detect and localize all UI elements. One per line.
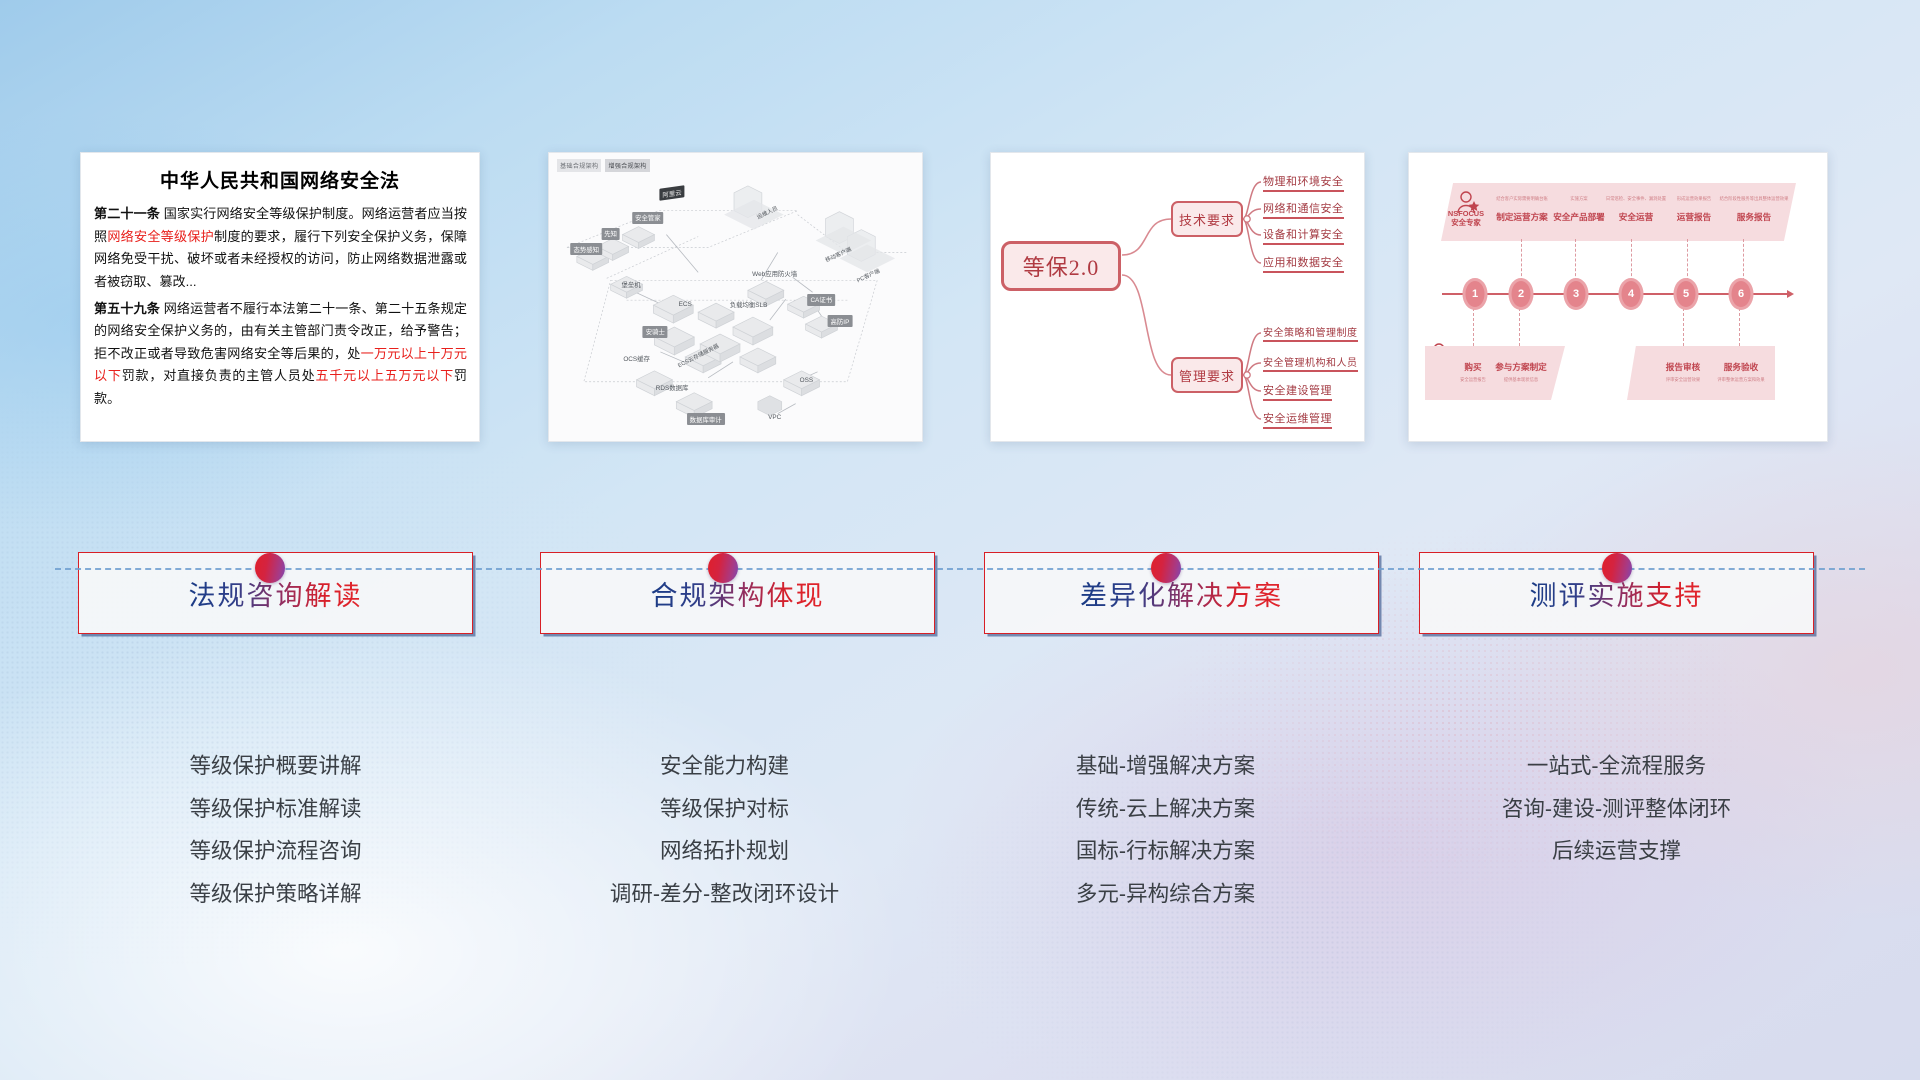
arch-node-xianzhi: 先知 xyxy=(601,228,620,240)
list-item: 多元-异构综合方案 xyxy=(968,884,1363,906)
timeline-top-main-3: 安全产品部署 xyxy=(1553,211,1605,223)
timeline-top-main-4: 安全运营 xyxy=(1619,211,1653,223)
mindmap-root-node: 等保2.0 xyxy=(1001,241,1121,291)
timeline-bottom-sub-5: 评审安全运营效果 xyxy=(1666,377,1700,383)
service-timeline: NSFOCUS 安全专家 客户 结合客户实际需要明确台账 制定运营方案 实施方案… xyxy=(1409,153,1827,441)
title-box-differentiated-solution[interactable]: 差异化解决方案 xyxy=(984,552,1379,634)
timeline-node-4[interactable] xyxy=(1602,553,1632,583)
arch-node-security-butler: 安全管家 xyxy=(632,212,664,224)
law-article-21-number: 第二十一条 xyxy=(94,206,160,221)
timeline-bottom-band-right xyxy=(1627,346,1775,400)
timeline-bottom-sub-6: 评审整体运营方案和效果 xyxy=(1717,377,1764,383)
timeline-link-line xyxy=(1575,239,1576,281)
timeline-link-line xyxy=(1687,239,1688,281)
arch-node-rds-database: RDS数据库 xyxy=(653,382,692,394)
list-item: 网络拓扑规划 xyxy=(527,841,922,863)
arch-node-ocs-cache: OCS缓存 xyxy=(620,353,653,365)
mindmap-leaf-construction: 安全建设管理 xyxy=(1263,382,1332,401)
timeline-top-main-2: 制定运营方案 xyxy=(1496,211,1548,223)
timeline-bottom-main-6: 服务验收 xyxy=(1724,361,1758,373)
list-item: 一站式-全流程服务 xyxy=(1419,756,1814,778)
timeline-top-main-5: 运营报告 xyxy=(1677,211,1711,223)
arch-node-bastion-host: 堡垒机 xyxy=(618,278,643,290)
mindmap: 等保2.0 技术要求 管理要求 物理和环境安全 网络和通信安全 设备和计算安全 … xyxy=(991,153,1364,441)
timeline-bottom-sub-2: 提供基本现状信息 xyxy=(1504,377,1538,383)
timeline-link-line xyxy=(1473,308,1474,346)
list-item: 传统-云上解决方案 xyxy=(968,799,1363,821)
mindmap-branch-technical: 技术要求 xyxy=(1171,201,1243,237)
timeline-bottom-main-5: 报告审核 xyxy=(1666,361,1700,373)
title-text-differentiated-solution: 差异化解决方案 xyxy=(1080,574,1283,613)
law-card-body: 第二十一条 国家实行网络安全等级保护制度。网络运营者应当按照网络安全等级保护制度… xyxy=(81,193,479,411)
timeline-provider-role-line1: NSFOCUS xyxy=(1448,209,1484,218)
timeline-node-2[interactable] xyxy=(708,553,738,583)
timeline-provider-role: NSFOCUS 安全专家 xyxy=(1448,209,1484,228)
timeline-link-line xyxy=(1521,239,1522,281)
architecture-diagram: 基础合规架构 增强合规架构 xyxy=(549,153,922,441)
list-item: 等级保护流程咨询 xyxy=(78,841,473,863)
timeline-bottom-band-left xyxy=(1425,346,1565,400)
arch-node-ecs: ECS xyxy=(676,299,695,309)
dengbao-mindmap-card: 等保2.0 技术要求 管理要求 物理和环境安全 网络和通信安全 设备和计算安全 … xyxy=(990,152,1365,442)
timeline-bottom-sub-1: 安全运营报告 xyxy=(1460,377,1486,383)
list-evaluation-support: 一站式-全流程服务 咨询-建设-测评整体闭环 后续运营支撑 xyxy=(1419,756,1814,863)
mindmap-leaf-physical-env: 物理和环境安全 xyxy=(1263,173,1344,192)
mindmap-leaf-app-data: 应用和数据安全 xyxy=(1263,254,1344,273)
timeline-link-line xyxy=(1683,308,1684,346)
law-run-highlight: 网络安全等级保护 xyxy=(107,229,214,244)
arch-node-slb: 负载均衡SLB xyxy=(727,298,771,310)
law-run-highlight: 五千元以上五万元以下 xyxy=(315,368,453,383)
list-item: 安全能力构建 xyxy=(527,756,922,778)
timeline-marker-5: 5 xyxy=(1674,278,1699,310)
arch-node-oss: OSS xyxy=(797,376,817,386)
list-regulation-consulting: 等级保护概要讲解 等级保护标准解读 等级保护流程咨询 等级保护策略详解 xyxy=(78,756,473,905)
list-item: 等级保护概要讲解 xyxy=(78,756,473,778)
mindmap-leaf-org-personnel: 安全管理机构和人员 xyxy=(1263,354,1358,372)
timeline-link-line xyxy=(1519,308,1520,346)
list-item: 国标-行标解决方案 xyxy=(968,841,1363,863)
list-item: 后续运营支撑 xyxy=(1419,841,1814,863)
cybersecurity-law-card: 中华人民共和国网络安全法 第二十一条 国家实行网络安全等级保护制度。网络运营者应… xyxy=(80,152,480,442)
arch-node-vpc: VPC xyxy=(765,413,784,423)
law-article-59: 第五十九条 网络运营者不履行本法第二十一条、第二十五条规定的网络安全保护义务的，… xyxy=(94,298,467,411)
timeline-bottom-main-2: 参与方案制定 xyxy=(1495,361,1547,373)
mindmap-leaf-network-comm: 网络和通信安全 xyxy=(1263,200,1344,219)
nsfocus-service-timeline-card: NSFOCUS 安全专家 客户 结合客户实际需要明确台账 制定运营方案 实施方案… xyxy=(1408,152,1828,442)
arch-node-waf: Web应用防火墙 xyxy=(749,268,800,280)
list-item: 等级保护对标 xyxy=(527,799,922,821)
title-text-compliance-architecture: 合规架构体现 xyxy=(651,574,825,613)
mindmap-leaf-operations: 安全运维管理 xyxy=(1263,410,1332,429)
timeline-provider-role-line2: 安全专家 xyxy=(1451,218,1481,227)
timeline-node-1[interactable] xyxy=(255,553,285,583)
list-item: 等级保护策略详解 xyxy=(78,884,473,906)
arch-node-ca-certificate: CA证书 xyxy=(807,294,835,306)
mindmap-branch-management: 管理要求 xyxy=(1171,357,1243,393)
timeline-top-sub-2: 结合客户实际需要明确台账 xyxy=(1496,196,1548,202)
timeline-marker-6: 6 xyxy=(1729,278,1754,310)
law-article-21: 第二十一条 国家实行网络安全等级保护制度。网络运营者应当按照网络安全等级保护制度… xyxy=(94,203,467,294)
timeline-top-sub-5: 形成运营效果报告 xyxy=(1677,196,1711,202)
timeline-marker-2: 2 xyxy=(1509,278,1534,310)
timeline-marker-4: 4 xyxy=(1619,278,1644,310)
list-item: 咨询-建设-测评整体闭环 xyxy=(1419,799,1814,821)
mindmap-leaf-device-compute: 设备和计算安全 xyxy=(1263,226,1344,245)
timeline-bottom-main-1: 购买 xyxy=(1464,361,1481,373)
timeline-top-sub-6: 结合阶段性服务等出具整体运营效果 xyxy=(1720,196,1789,202)
timeline-link-line xyxy=(1631,239,1632,281)
compliance-architecture-card: 基础合规架构 增强合规架构 xyxy=(548,152,923,442)
law-article-59-number: 第五十九条 xyxy=(94,301,160,316)
timeline-link-line xyxy=(1743,239,1744,281)
timeline-top-main-6: 服务报告 xyxy=(1737,211,1771,223)
list-item: 等级保护标准解读 xyxy=(78,799,473,821)
arch-node-anqishi: 安骑士 xyxy=(643,326,668,338)
timeline-axis-arrow-icon xyxy=(1787,290,1794,298)
arch-node-db-audit: 数据库审计 xyxy=(687,413,725,425)
list-differentiated-solution: 基础-增强解决方案 传统-云上解决方案 国标-行标解决方案 多元-异构综合方案 xyxy=(968,756,1363,905)
timeline-top-sub-4: 日常巡检、安全事件、漏洞处置 xyxy=(1606,196,1666,202)
list-item: 调研-差分-整改闭环设计 xyxy=(527,884,922,906)
arch-node-situation-aware: 态势感知 xyxy=(571,243,603,255)
list-item: 基础-增强解决方案 xyxy=(968,756,1363,778)
mindmap-leaf-policy-system: 安全策略和管理制度 xyxy=(1263,324,1358,342)
timeline-marker-3: 3 xyxy=(1564,278,1589,310)
law-card-title: 中华人民共和国网络安全法 xyxy=(81,153,479,193)
timeline-top-sub-3: 实施方案 xyxy=(1570,196,1587,202)
list-compliance-architecture: 安全能力构建 等级保护对标 网络拓扑规划 调研-差分-整改闭环设计 xyxy=(527,756,922,905)
timeline-marker-1: 1 xyxy=(1463,278,1488,310)
arch-node-anti-ddos-ip: 高防IP xyxy=(828,315,853,327)
timeline-link-line xyxy=(1739,308,1740,346)
law-run: 罚款，对直接负责的主管人员处 xyxy=(122,368,316,383)
progress-timeline-rule xyxy=(55,568,1865,570)
timeline-node-3[interactable] xyxy=(1151,553,1181,583)
